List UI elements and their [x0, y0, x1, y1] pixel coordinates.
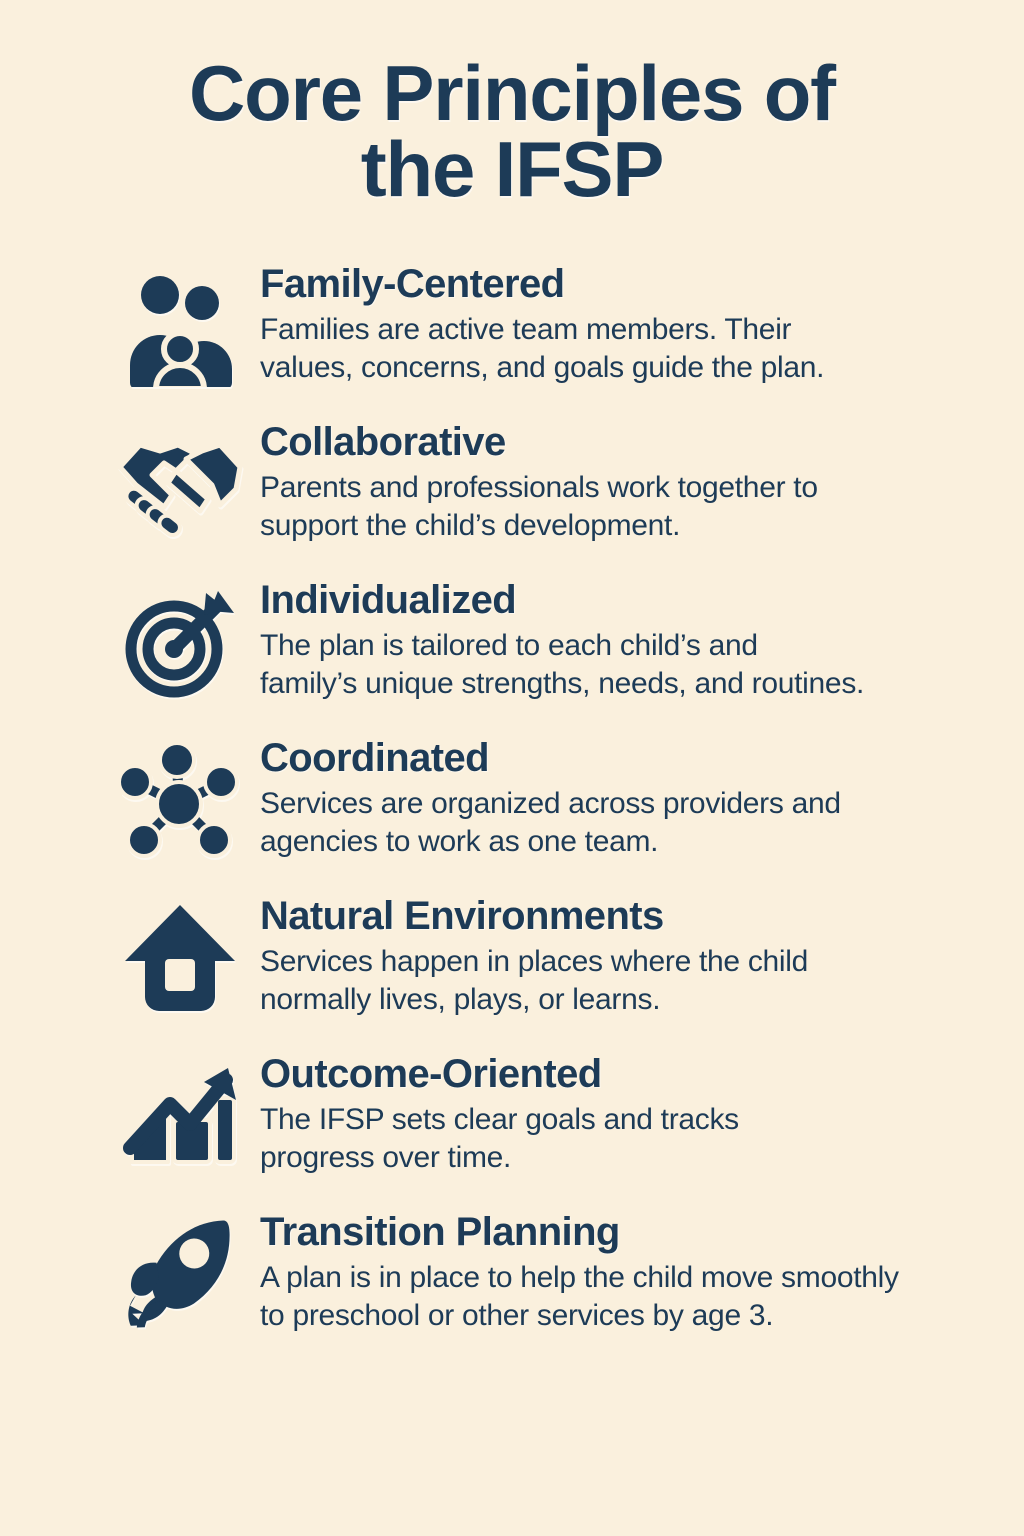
principle-title: Coordinated	[260, 737, 986, 780]
principle-text: Transition Planning A plan is in place t…	[260, 1209, 986, 1335]
principle-body-line-1: Families are active team members. Their	[260, 311, 980, 349]
house-icon	[100, 893, 260, 1021]
network-icon	[100, 735, 260, 863]
principle-item-natural-environments: Natural Environments Services happen in …	[100, 893, 986, 1023]
page-title-line-2: the IFSP	[361, 125, 663, 213]
page-title: Core Principles of the IFSP	[189, 46, 835, 207]
principle-title: Collaborative	[260, 421, 986, 464]
handshake-icon	[100, 419, 260, 547]
principle-item-transition-planning: Transition Planning A plan is in place t…	[100, 1209, 986, 1339]
principle-body: Services happen in places where the chil…	[260, 943, 980, 1020]
principle-item-outcome-oriented: Outcome-Oriented The IFSP sets clear goa…	[100, 1051, 986, 1181]
principle-body-line-2: normally lives, plays, or learns.	[260, 981, 980, 1019]
principle-body-line-2: family’s unique strengths, needs, and ro…	[260, 665, 986, 703]
principle-text: Coordinated Services are organized acros…	[260, 735, 986, 861]
principle-title: Family-Centered	[260, 263, 986, 306]
infographic-page: Core Principles of the IFSP Family-Cent	[0, 0, 1024, 1536]
principle-text: Natural Environments Services happen in …	[260, 893, 986, 1019]
principle-title: Natural Environments	[260, 895, 986, 938]
principle-body-line-1: The plan is tailored to each child’s and	[260, 627, 986, 665]
principle-text: Collaborative Parents and professionals …	[260, 419, 986, 545]
principle-item-coordinated: Coordinated Services are organized acros…	[100, 735, 986, 865]
principle-body-line-1: Services are organized across providers …	[260, 785, 980, 823]
principle-item-family-centered: Family-Centered Families are active team…	[100, 261, 986, 391]
principle-title: Individualized	[260, 579, 986, 622]
principle-body-line-1: Services happen in places where the chil…	[260, 943, 980, 981]
principle-body-line-2: agencies to work as one team.	[260, 823, 980, 861]
principle-body-line-2: support the child’s development.	[260, 507, 980, 545]
principle-body-line-2: progress over time.	[260, 1139, 980, 1177]
principle-body: Families are active team members. Their …	[260, 311, 980, 388]
principle-body-line-2: to preschool or other services by age 3.	[260, 1297, 986, 1335]
principle-body-line-1: A plan is in place to help the child mov…	[260, 1259, 986, 1297]
target-icon	[100, 577, 260, 705]
principle-body: A plan is in place to help the child mov…	[260, 1259, 986, 1336]
growth-chart-icon	[100, 1051, 260, 1179]
principle-body: The IFSP sets clear goals and tracks pro…	[260, 1101, 980, 1178]
principle-body: Parents and professionals work together …	[260, 469, 980, 546]
principle-text: Family-Centered Families are active team…	[260, 261, 986, 387]
principle-text: Outcome-Oriented The IFSP sets clear goa…	[260, 1051, 986, 1177]
principle-item-collaborative: Collaborative Parents and professionals …	[100, 419, 986, 549]
rocket-icon	[100, 1209, 260, 1337]
principle-body-line-1: Parents and professionals work together …	[260, 469, 980, 507]
principle-item-individualized: Individualized The plan is tailored to e…	[100, 577, 986, 707]
principle-body-line-2: values, concerns, and goals guide the pl…	[260, 349, 980, 387]
principle-body-line-1: The IFSP sets clear goals and tracks	[260, 1101, 980, 1139]
principle-body: Services are organized across providers …	[260, 785, 980, 862]
principles-list: Family-Centered Families are active team…	[30, 261, 994, 1339]
principle-text: Individualized The plan is tailored to e…	[260, 577, 986, 703]
family-icon	[100, 261, 260, 389]
principle-title: Transition Planning	[260, 1211, 986, 1254]
principle-body: The plan is tailored to each child’s and…	[260, 627, 986, 704]
principle-title: Outcome-Oriented	[260, 1053, 986, 1096]
